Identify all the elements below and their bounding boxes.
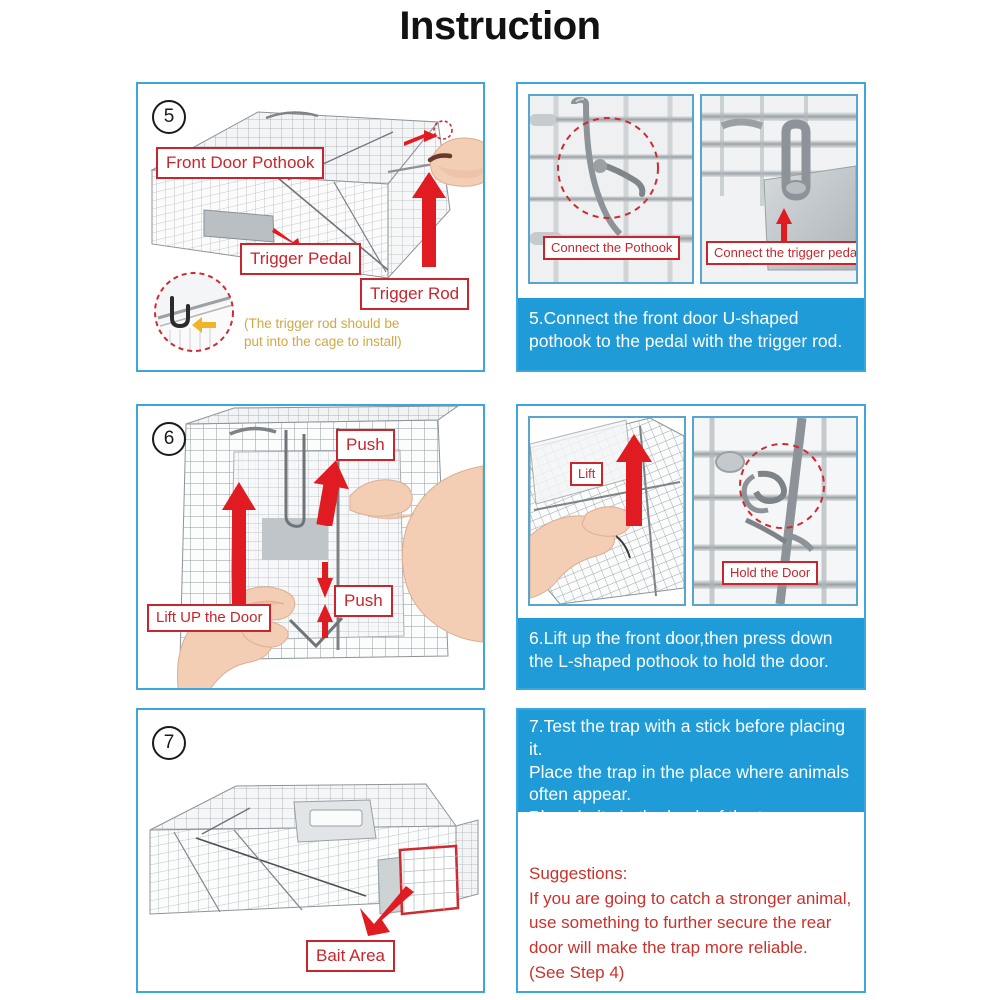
step-number-6: 6 (152, 422, 186, 456)
page-title: Instruction (0, 0, 1000, 52)
label-hold-the-door: Hold the Door (722, 561, 818, 585)
subphoto-lift: Lift (528, 416, 686, 606)
label-connect-the-trigger-pedal: Connect the trigger pedal (706, 241, 858, 265)
arrow-down-push-bottom (317, 562, 333, 598)
note-trigger-rod-install: (The trigger rod should be put into the … (244, 315, 402, 351)
caption-step-5-line-2: pothook to the pedal with the trigger ro… (529, 330, 853, 353)
label-bait-area: Bait Area (306, 940, 395, 972)
label-connect-the-pothook: Connect the Pothook (543, 236, 680, 260)
note-line-1: (The trigger rod should be (244, 315, 402, 333)
suggestions-line-3: door will make the trap more reliable. (529, 936, 859, 961)
caption-step-5: 5.Connect the front door U-shaped pothoo… (518, 298, 864, 370)
suggestions-line-2: use something to further secure the rear (529, 911, 859, 936)
panel-step-6: 6 Push Push Lift UP the Door (136, 404, 485, 690)
subphoto-connect-pothook: Connect the Pothook (528, 94, 694, 284)
note-line-2: put into the cage to install) (244, 333, 402, 351)
label-lift-up-the-door: Lift UP the Door (147, 604, 271, 632)
label-push-bottom: Push (334, 585, 393, 617)
cage-photo-step6 (138, 406, 483, 688)
caption-step-6-line-1: 6.Lift up the front door,then press down (529, 627, 853, 650)
subphoto-hold-the-door: Hold the Door (692, 416, 858, 606)
step-number-5: 5 (152, 100, 186, 134)
panel-step-5: 5 Front Door Pothook Trigger Pedal Trigg… (136, 82, 485, 372)
panel-step-7: 7 Bait Area (136, 708, 485, 993)
caption-step-7-line-2: Place the trap in the place where animal… (529, 761, 853, 784)
label-trigger-pedal: Trigger Pedal (240, 243, 361, 275)
panel-step-5-caption: Connect the Pothook (516, 82, 866, 372)
label-trigger-rod: Trigger Rod (360, 278, 469, 310)
arrow-up-push-top (310, 460, 350, 526)
label-lift: Lift (570, 462, 603, 486)
suggestions-line-4: (See Step 4) (529, 961, 859, 986)
instruction-page: Instruction (0, 0, 1000, 1000)
suggestions-block: Suggestions: If you are going to catch a… (529, 862, 859, 985)
panel-step-7-caption: 7.Test the trap with a stick before plac… (516, 708, 866, 993)
label-push-top: Push (336, 429, 395, 461)
suggestions-line-1: If you are going to catch a stronger ani… (529, 887, 859, 912)
caption-step-6: 6.Lift up the front door,then press down… (518, 618, 864, 688)
step-number-7: 7 (152, 726, 186, 760)
caption-step-7: 7.Test the trap with a stick before plac… (518, 710, 864, 812)
inset-trigger-rod-detail (152, 270, 236, 354)
panel-step-6-caption: Lift (516, 404, 866, 690)
suggestions-heading: Suggestions: (529, 862, 859, 887)
label-front-door-pothook: Front Door Pothook (156, 147, 324, 179)
caption-step-7-line-1: 7.Test the trap with a stick before plac… (529, 715, 853, 761)
caption-step-7-line-4: Place baits in the back of the tarp. (529, 806, 853, 829)
caption-step-5-line-1: 5.Connect the front door U-shaped (529, 307, 853, 330)
arrow-up-push-bottom (317, 604, 333, 638)
arrow-up-trigger-rod (412, 172, 446, 267)
caption-step-6-line-2: the L-shaped pothook to hold the door. (529, 650, 853, 673)
subphoto-connect-trigger-pedal: Connect the trigger pedal (700, 94, 858, 284)
caption-step-7-line-3: often appear. (529, 783, 853, 806)
cage-photo-step7 (138, 768, 483, 958)
arrow-up-lift-door (222, 482, 256, 604)
